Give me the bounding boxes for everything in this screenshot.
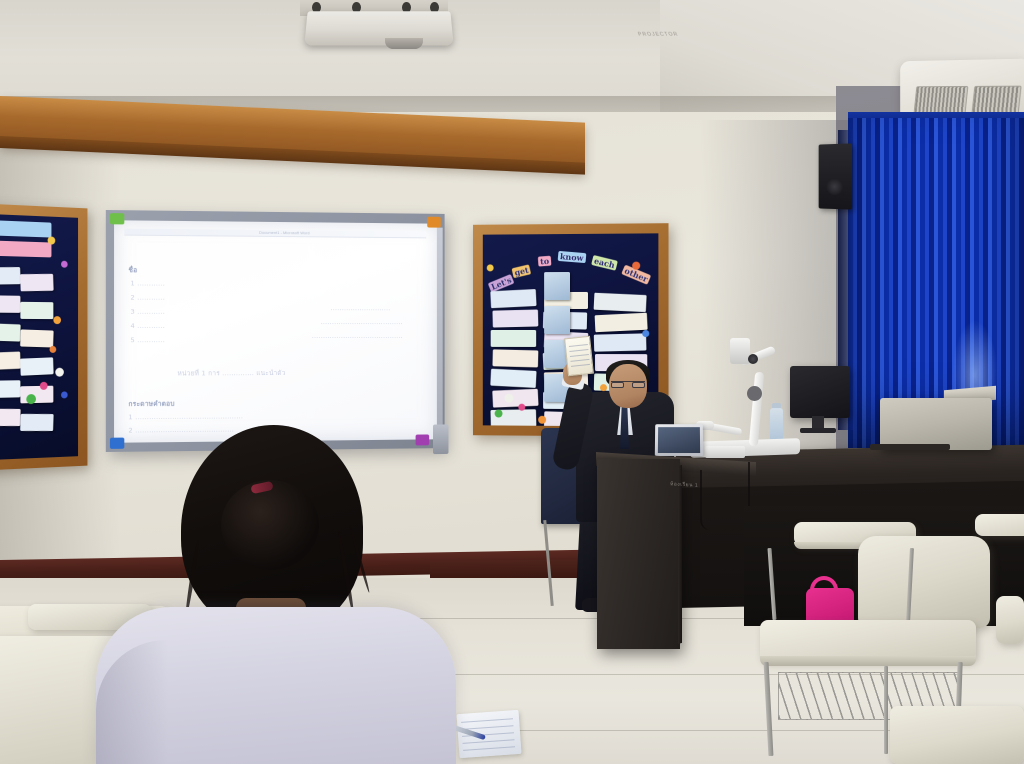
whiteboard-text-line: 1 ......................................… (128, 412, 243, 421)
bulletin-banner-fragment (0, 241, 51, 258)
projected-app-title: Document1 - Microsoft Word (259, 230, 310, 235)
bulletin-student-card (492, 309, 538, 327)
ac-grille-icon (914, 86, 969, 114)
bulletin-student-card (594, 293, 647, 312)
bulletin-student-card (595, 313, 648, 333)
paper-flower-decoration (48, 236, 56, 244)
ceiling-projector: PROJECTOR (304, 11, 453, 45)
whiteboard-text-line: 1 ............ (130, 279, 165, 287)
bulletin-student-card (0, 267, 21, 285)
projector-brand-label: PROJECTOR (637, 32, 679, 38)
paper-flower-decoration (642, 330, 649, 337)
bulletin-student-card (491, 330, 536, 347)
paper-flower-decoration (61, 261, 68, 268)
bulletin-student-card (20, 414, 54, 431)
bulletin-banner-word: each (591, 255, 618, 271)
interactive-whiteboard[interactable]: Document1 - Microsoft Word ชื่อ1 .......… (106, 210, 445, 452)
bulletin-student-card (0, 295, 20, 313)
bulletin-photo-card (544, 272, 570, 300)
printer-output-shelf (870, 444, 950, 450)
classroom-chair[interactable] (996, 596, 1024, 644)
whiteboard-text-line: ........................... (331, 304, 391, 312)
whiteboard-side-toolbar[interactable] (437, 228, 443, 425)
whiteboard-corner-marker-green (110, 213, 124, 224)
eyeglass-lens-right (632, 382, 645, 388)
bulletin-banner-word: to (538, 256, 552, 267)
paper-flower-decoration (495, 410, 503, 418)
whiteboard-text-line: 4 ............ (130, 322, 165, 330)
bulletin-banner-word: know (558, 251, 586, 263)
paper-flower-decoration (50, 346, 57, 353)
whiteboard-text-line: ..................................... (321, 318, 403, 326)
bulletin-student-card (0, 409, 21, 426)
paper-flower-decoration (487, 264, 494, 271)
monitor-foot (800, 428, 836, 433)
notebook-line (463, 746, 515, 751)
bulletin-student-card (490, 289, 536, 308)
bulletin-student-card (20, 357, 54, 376)
paper-flower-decoration (538, 416, 546, 424)
desk-leg (884, 666, 888, 754)
whiteboard-text-line: 5 ............ (130, 336, 165, 344)
bulletin-student-card (490, 369, 536, 388)
classroom-photo: PROJECTOR Document1 - Microsoft Word ชื่… (0, 0, 1024, 764)
projector-lens-icon (385, 38, 423, 49)
bulletin-banner-fragment (0, 220, 51, 237)
card-line (570, 359, 589, 362)
card-line (570, 354, 589, 357)
document-camera-head (730, 338, 750, 364)
whiteboard-corner-marker-orange (427, 217, 441, 228)
keypad-device[interactable] (705, 446, 745, 458)
bulletin-student-card (20, 386, 53, 404)
bulletin-board-left (0, 204, 87, 471)
bulletin-photo-card (544, 306, 570, 334)
podium-side-panel (678, 465, 682, 644)
whiteboard-text-line: 2 ............ (130, 293, 165, 301)
paper-flower-decoration (55, 368, 64, 377)
bulletin-student-card (492, 349, 538, 367)
water-bottle (770, 408, 783, 442)
whiteboard-text-line: 2 ......................................… (128, 425, 234, 434)
bulletin-student-card (594, 333, 647, 351)
whiteboard-text-line: ชื่อ (128, 265, 137, 275)
laser-printer[interactable] (880, 398, 992, 450)
card-line (569, 349, 588, 352)
paper-flower-decoration (504, 394, 513, 403)
notebook-line (463, 739, 515, 744)
classroom-chair[interactable] (858, 536, 990, 628)
card-line (569, 344, 588, 347)
ac-grille-icon (971, 86, 1021, 115)
bulletin-student-card (20, 274, 54, 292)
paper-flower-decoration (518, 404, 525, 411)
paper-flower-decoration (600, 384, 607, 391)
paper-flower-decoration (53, 316, 61, 324)
wall-speaker (819, 143, 852, 209)
whiteboard-text-line: ........................................… (312, 332, 403, 340)
classroom-chair[interactable] (890, 706, 1024, 764)
card-line (571, 364, 590, 367)
bulletin-student-card (20, 329, 54, 347)
student-hair-bun (221, 480, 319, 570)
notebook-line (461, 718, 513, 723)
laptop-screen (658, 427, 700, 453)
bulletin-student-card (0, 351, 21, 370)
whiteboard-text-line: กระดาษคำตอบ (128, 399, 174, 409)
bulletin-banner-word: get (512, 264, 532, 278)
whiteboard-projection-screen[interactable]: Document1 - Microsoft Word ชื่อ1 .......… (114, 220, 438, 442)
laptop[interactable] (655, 424, 703, 456)
computer-monitor[interactable] (790, 366, 850, 418)
bulletin-student-card (20, 302, 53, 319)
whiteboard-pen-tray[interactable] (433, 424, 448, 454)
bulletin-student-card (0, 323, 21, 341)
paper-flower-decoration (61, 391, 68, 398)
bulletin-student-card (492, 389, 538, 408)
tablet-arm-desk[interactable] (975, 514, 1024, 536)
podium-front-label: ห้องเรียน 1 (670, 480, 698, 489)
power-cable (700, 470, 710, 530)
document-camera-joint (747, 386, 762, 401)
speaker-cone-icon (826, 178, 843, 195)
eyeglasses-icon (611, 381, 645, 387)
whiteboard-text-line: 3 ............ (130, 308, 165, 316)
held-student-card (564, 336, 594, 377)
eyeglass-lens-left (611, 382, 624, 388)
lectern-podium (597, 459, 680, 649)
bulletin-board-backing (0, 214, 78, 460)
paper-flower-decoration (632, 262, 640, 270)
whiteboard-corner-marker-purple (416, 434, 430, 445)
whiteboard-text-line: หน่วยที่ 1 การ .............. แนะนำตัว (177, 368, 285, 378)
desk-edge (760, 656, 976, 666)
whiteboard-corner-marker-blue (110, 438, 124, 449)
document-camera-lens-icon (748, 354, 758, 364)
bulletin-student-card (0, 380, 20, 398)
